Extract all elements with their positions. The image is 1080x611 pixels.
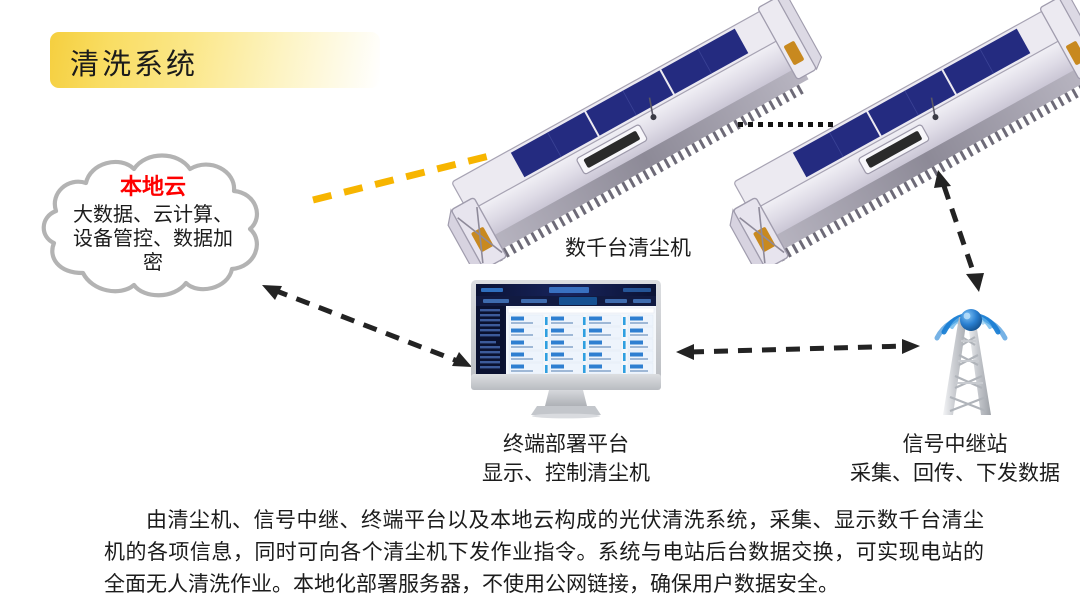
tower-caption: 信号中继站 采集、回传、下发数据 — [830, 430, 1080, 489]
desktop-monitor-icon — [463, 276, 669, 421]
summary-paragraph: 由清尘机、信号中继、终端平台以及本地云构成的光伏清洗系统，采集、显示数千台清尘机… — [104, 505, 984, 601]
tower-caption-line2: 采集、回传、下发数据 — [830, 459, 1080, 488]
robot-chain-dotted-link — [738, 122, 834, 127]
dashed-arrow-cloud-monitor — [248, 262, 484, 388]
cloud-icon — [28, 145, 278, 305]
slide-canvas: 清洗系统 本地云 大数据、云计算、设备管控、数据加密 — [0, 0, 1080, 611]
monitor-caption: 终端部署平台 显示、控制清尘机 — [420, 430, 712, 489]
dashed-arrow-monitor-tower — [668, 330, 926, 370]
dashed-arrow-tower-robot — [918, 160, 1014, 302]
signal-tower-icon — [905, 283, 1037, 423]
monitor-caption-line2: 显示、控制清尘机 — [420, 459, 712, 488]
monitor-caption-line1: 终端部署平台 — [420, 430, 712, 459]
cleaning-robot-2 — [700, 0, 1080, 264]
robots-label: 数千台清尘机 — [565, 232, 691, 262]
page-title: 清洗系统 — [70, 41, 198, 83]
tower-caption-line1: 信号中继站 — [830, 430, 1080, 459]
